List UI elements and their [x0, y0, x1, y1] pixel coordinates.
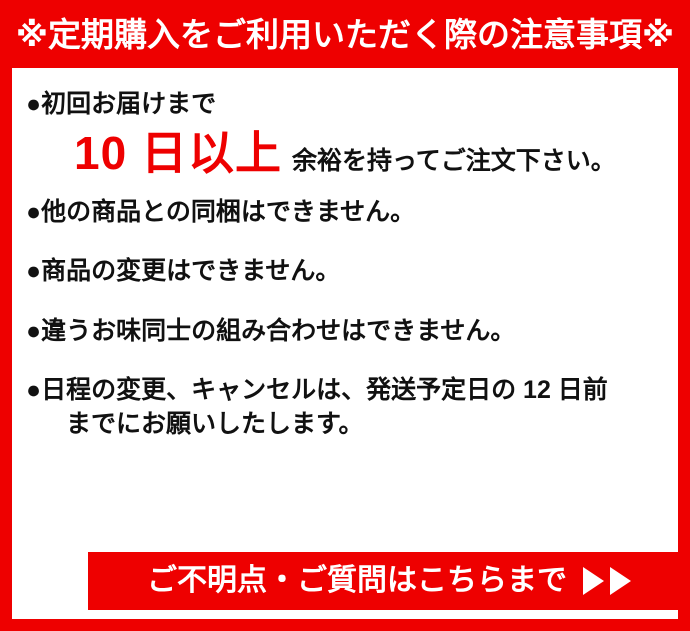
notice-text: ●日程の変更、キャンセルは、発送予定日の 12 日前 — [26, 376, 608, 404]
cta-label: ご不明点・ご質問はこちらまで — [147, 566, 567, 596]
list-item: ●違うお味同士の組み合わせはできません。 — [12, 317, 678, 347]
notice-text-continuation: までにお願いしたします。 — [26, 410, 678, 440]
emphasis-tail-text: 余裕を持ってご注文下さい。 — [292, 147, 616, 175]
page-title: ※定期購入をご利用いただく際の注意事項※ — [16, 18, 674, 51]
subscription-notice-banner: ※定期購入をご利用いただく際の注意事項※ ●初回お届けまで 10 日以上余裕を持… — [0, 0, 690, 631]
emphasis-row: 10 日以上余裕を持ってご注文下さい。 — [26, 126, 678, 180]
list-item: ●初回お届けまで 10 日以上余裕を持ってご注文下さい。 — [12, 90, 678, 180]
notice-text: ●初回お届けまで — [26, 90, 216, 118]
list-item: ●他の商品との同梱はできません。 — [12, 198, 678, 228]
notice-text: ●他の商品との同梱はできません。 — [26, 198, 415, 226]
notice-text: ●違うお味同士の組み合わせはできません。 — [26, 317, 515, 345]
emphasis-days-value: 10 日以上 — [74, 127, 282, 179]
cta-arrow-group — [583, 567, 631, 595]
notice-text: ●商品の変更はできません。 — [26, 257, 340, 285]
list-item: ●日程の変更、キャンセルは、発送予定日の 12 日前 までにお願いしたします。 — [12, 376, 678, 439]
header-band: ※定期購入をご利用いただく際の注意事項※ — [0, 0, 690, 68]
contact-cta-button[interactable]: ご不明点・ご質問はこちらまで — [88, 552, 690, 610]
notice-list: ●初回お届けまで 10 日以上余裕を持ってご注文下さい。 ●他の商品との同梱はで… — [12, 76, 678, 439]
triangle-right-icon — [610, 567, 631, 595]
triangle-right-icon — [583, 567, 604, 595]
list-item: ●商品の変更はできません。 — [12, 257, 678, 287]
